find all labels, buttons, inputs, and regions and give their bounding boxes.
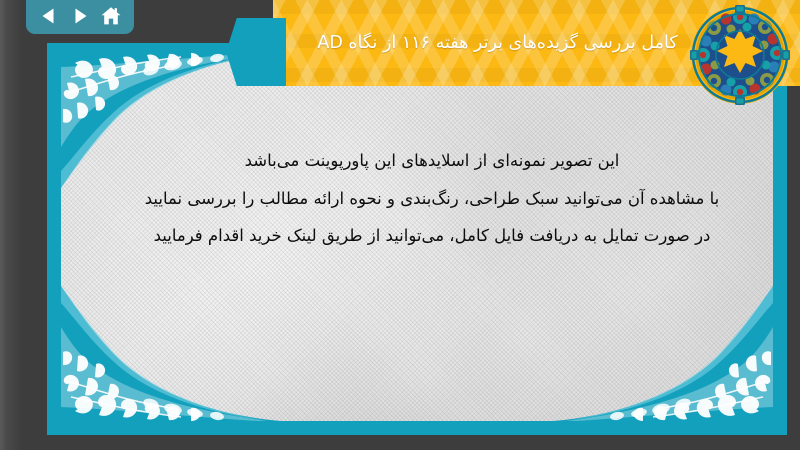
arabesque-corner-bottom-right-icon <box>553 286 773 421</box>
triangle-left-icon <box>39 6 59 26</box>
triangle-right-icon <box>70 6 90 26</box>
navigation-toolbar <box>26 0 134 34</box>
slide-content-area: این تصویر نمونه‌ای از اسلایدهای این پاور… <box>61 53 773 421</box>
arabesque-corner-bottom-left-icon <box>61 286 281 421</box>
slide-viewer: این تصویر نمونه‌ای از اسلایدهای این پاور… <box>0 0 800 450</box>
slide-canvas: این تصویر نمونه‌ای از اسلایدهای این پاور… <box>47 43 787 435</box>
body-line-3: در صورت تمایل به دریافت فایل کامل، می‌تو… <box>117 228 747 245</box>
home-button[interactable] <box>98 3 124 29</box>
next-slide-button[interactable] <box>67 3 93 29</box>
page-title: کامل بررسی گزیده‌های برتر هفته ۱۱۶ از نگ… <box>291 31 704 55</box>
home-icon <box>100 5 122 27</box>
body-line-1: این تصویر نمونه‌ای از اسلایدهای این پاور… <box>117 153 747 170</box>
persian-mandala-medallion-icon <box>688 3 792 107</box>
title-arrow-tab <box>226 18 286 86</box>
body-line-2: با مشاهده آن می‌توانید سبک طراحی، رنگ‌بن… <box>117 191 747 208</box>
previous-slide-button[interactable] <box>36 3 62 29</box>
slide-body-text: این تصویر نمونه‌ای از اسلایدهای این پاور… <box>117 153 747 245</box>
